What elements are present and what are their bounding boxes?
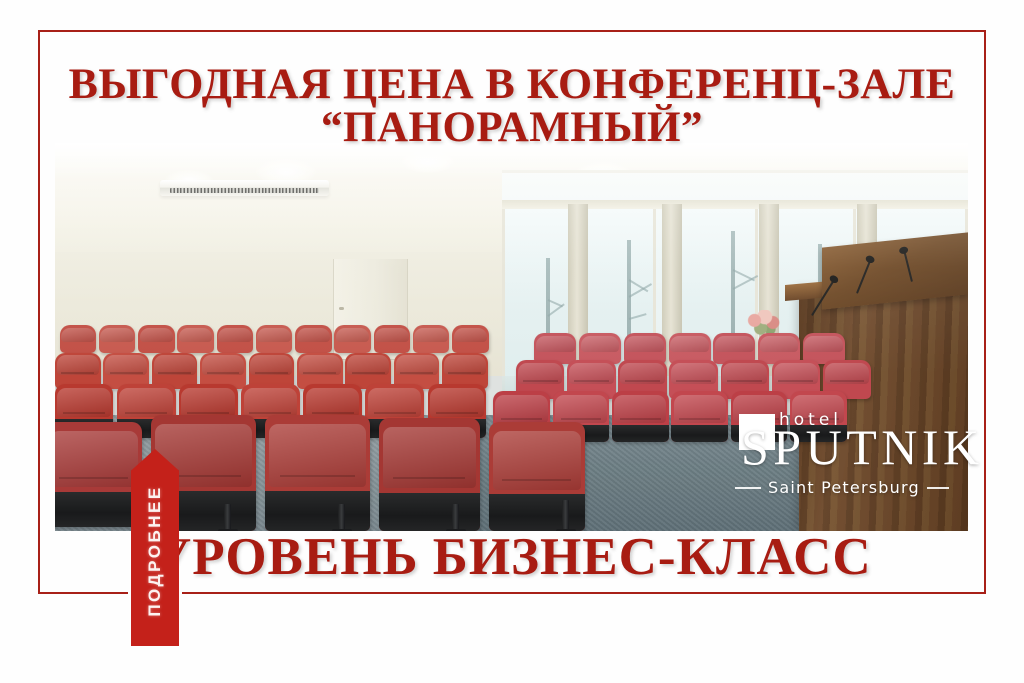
seat [60,325,97,352]
page-title: ВЫГОДНАЯ ЦЕНА В КОНФЕРЕНЦ-ЗАЛЕ “ПАНОРАМН… [0,64,1024,149]
seat [612,391,669,441]
seat [217,325,254,352]
seat [99,325,136,352]
logo-city-row: Saint Petersburg [735,478,945,497]
seat [55,422,142,527]
headline-line-1: ВЫГОДНАЯ ЦЕНА В КОНФЕРЕНЦ-ЗАЛЕ [0,64,1024,105]
seat [413,325,450,352]
seat [671,391,728,441]
logo-rule-right-icon [927,487,949,489]
seat [452,325,489,352]
seat [334,325,371,352]
seat [489,422,585,531]
seat [374,325,411,352]
learn-more-label: ПОДРОБНЕЕ [145,486,165,617]
seat [138,325,175,352]
learn-more-ribbon[interactable]: ПОДРОБНЕЕ [131,449,179,646]
logo-city: Saint Petersburg [768,478,920,497]
poster-canvas: ВЫГОДНАЯ ЦЕНА В КОНФЕРЕНЦ-ЗАЛЕ “ПАНОРАМН… [0,0,1024,683]
headline-line-2: “ПАНОРАМНЫЙ” [0,107,1024,148]
seat [265,415,370,531]
seat [379,418,479,531]
logo-name: SPUTNIK [741,422,984,472]
logo-rule-left-icon [735,487,761,489]
seat [177,325,214,352]
seat [256,325,293,352]
hotel-logo: hotel SPUTNIK Saint Petersburg [735,404,945,500]
seat [295,325,332,352]
